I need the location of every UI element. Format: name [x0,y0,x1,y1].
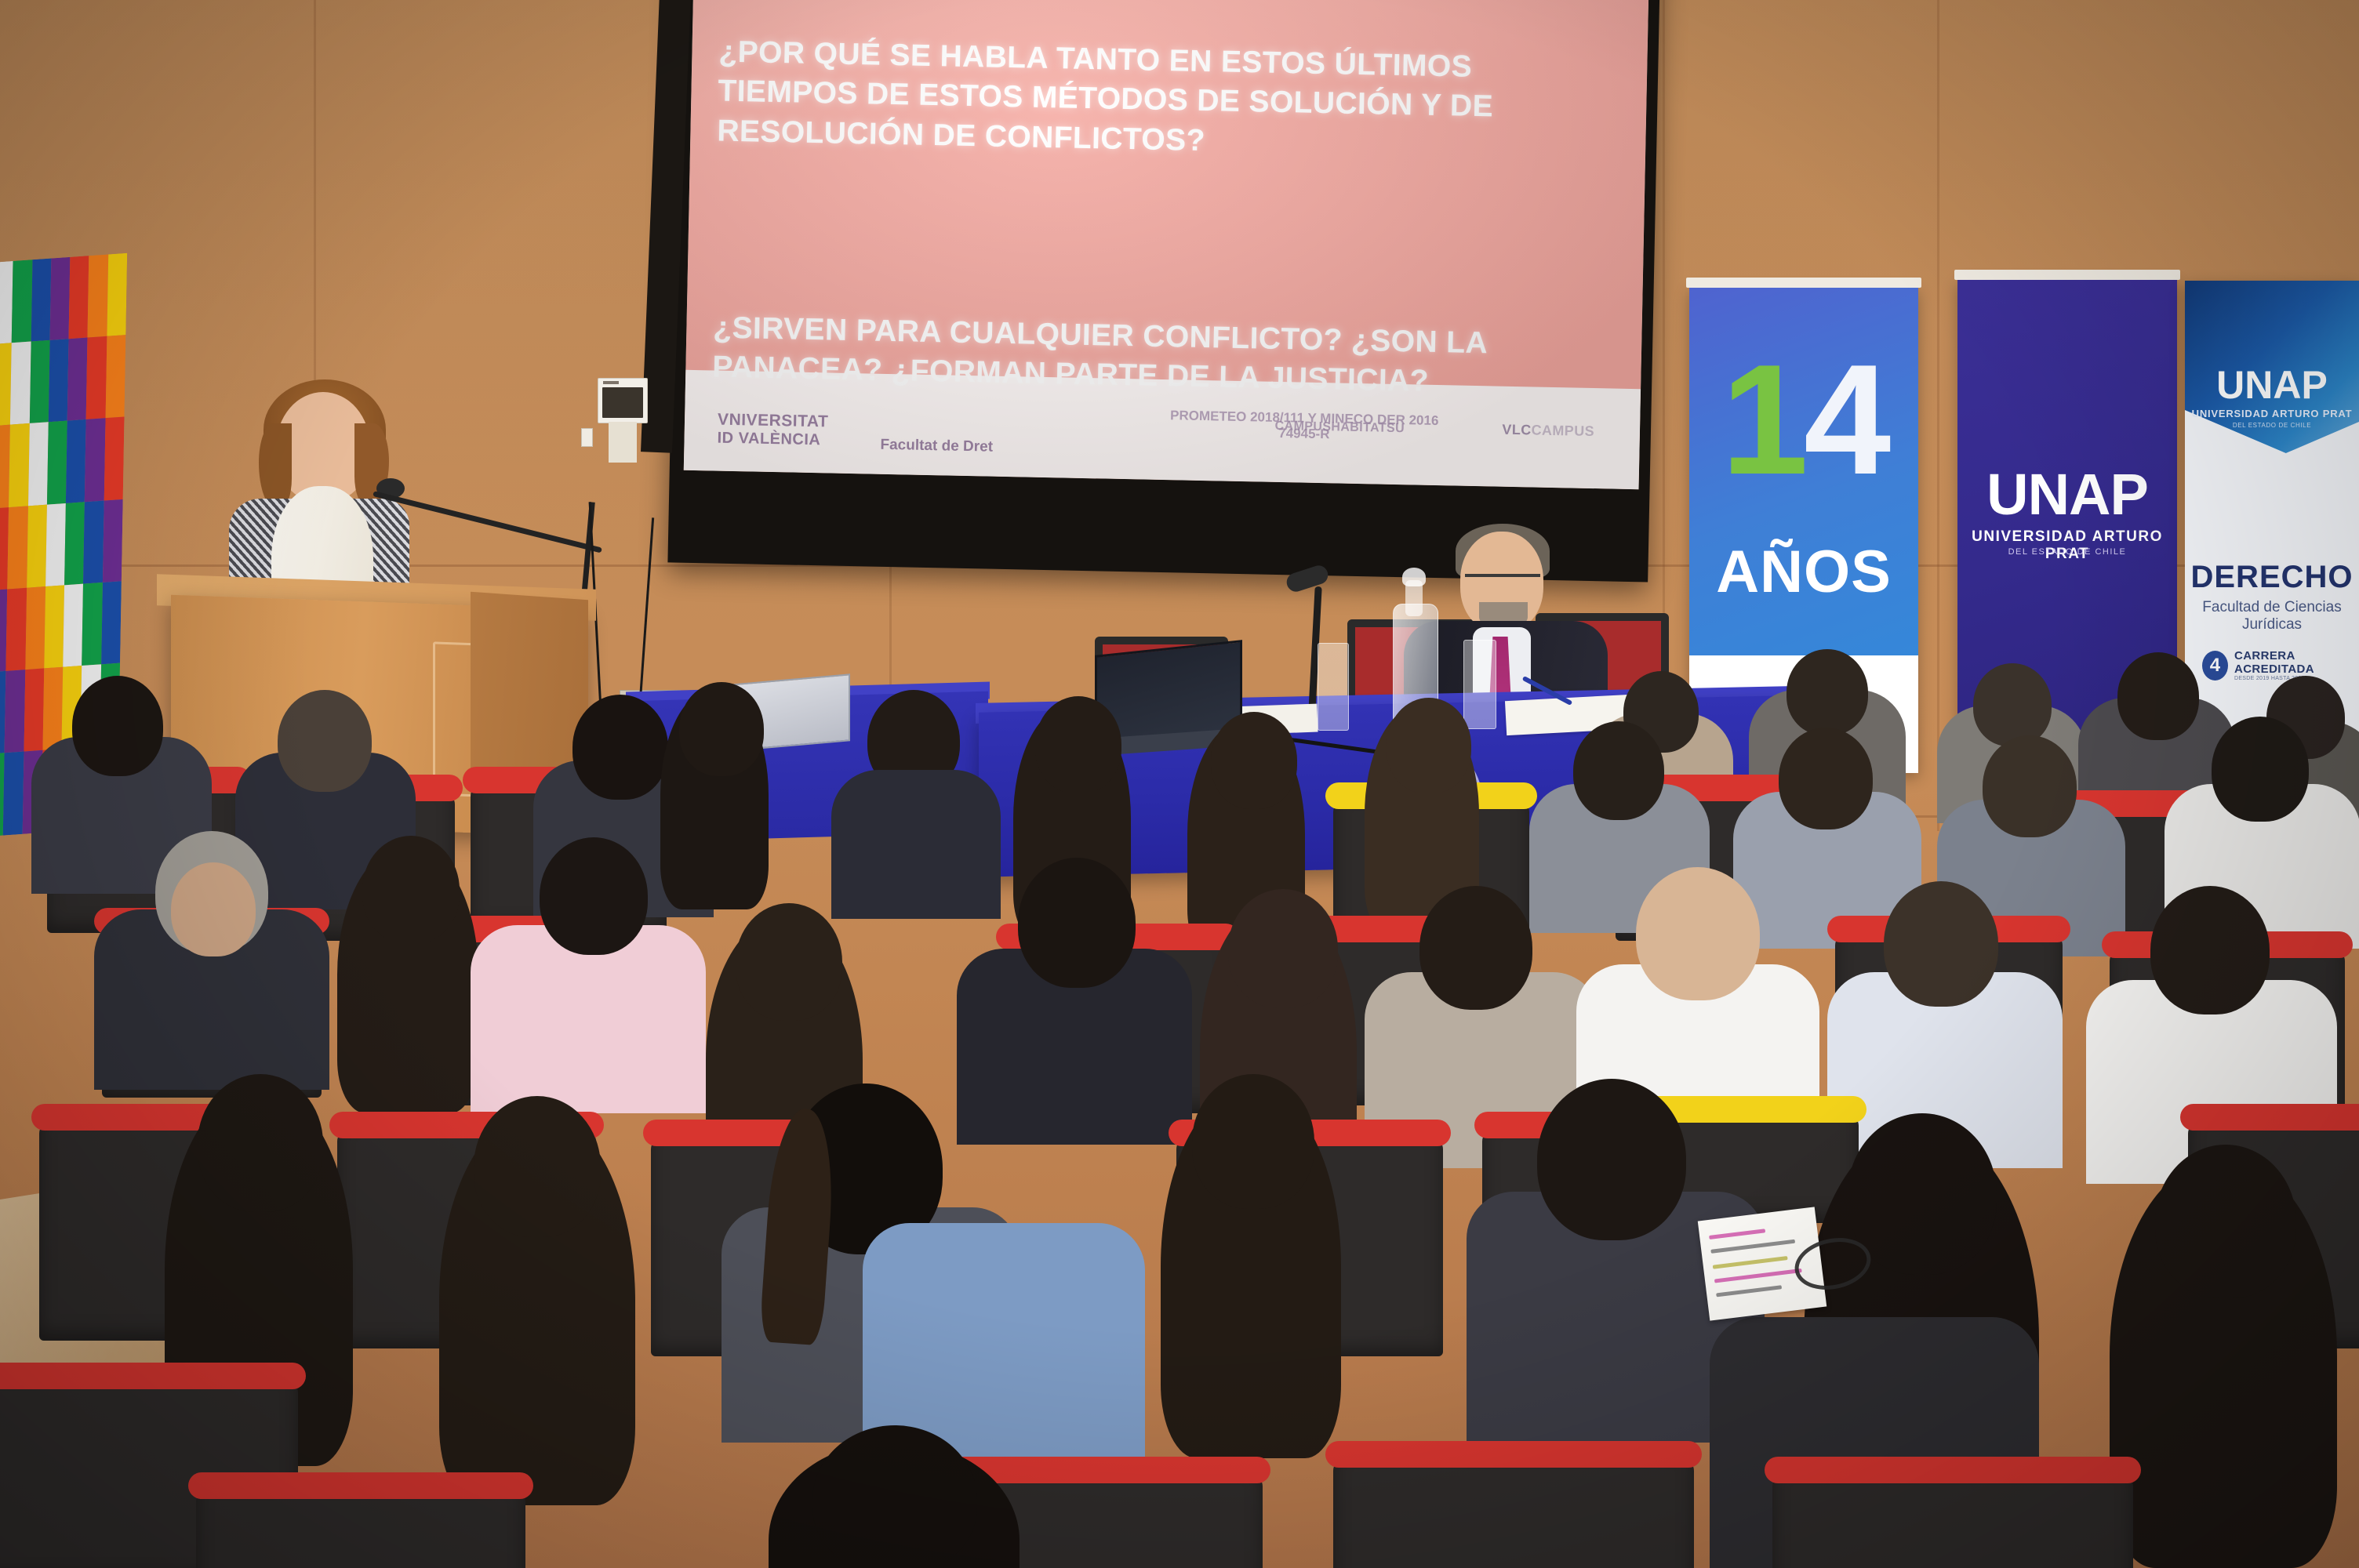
derecho-unap-name: UNIVERSIDAD ARTURO PRAT [2185,408,2359,419]
seat-red-trim [1325,1441,1702,1468]
attendee-head [1787,649,1868,735]
attendee-head [1884,881,1998,1007]
university-line-2: ID VALÈNCIA [717,430,828,450]
attendee-head [1035,696,1121,793]
attendee-head [1983,735,2077,837]
attendee-face [171,862,256,956]
accreditation-years-badge: 4 [2202,651,2228,681]
conference-hall-photo: ¿QUÉ SON LAS ADR? ¿POR QUÉ SE HABLA TANT… [0,0,2359,1568]
auditorium-seat[interactable] [1333,1458,1694,1568]
attendee-head [1973,663,2052,746]
derecho-faculty-name: Facultad de Ciencias Jurídicas [2185,599,2359,633]
attendee-head [72,676,163,776]
unap-subtitle: DEL ESTADO DE CHILE [1957,547,2177,557]
attendee-head [679,682,764,776]
projection-screen: ¿QUÉ SON LAS ADR? ¿POR QUÉ SE HABLA TANT… [667,0,1661,582]
attendee-head [736,903,842,1021]
attendee-head [2150,886,2270,1014]
attendee-head [2155,1145,2296,1298]
attendee-head [540,837,648,955]
attendee-head [1387,698,1471,793]
auditorium-seat[interactable] [196,1490,525,1568]
seat-red-trim [188,1472,533,1499]
accreditation-block: 4 CARRERA ACREDITADA DESDE 2019 HASTA 20… [2202,649,2359,681]
presentation-slide: ¿QUÉ SON LAS ADR? ¿POR QUÉ SE HABLA TANT… [684,0,1651,489]
attendee-denim-jacket [863,1223,1145,1458]
attendee-head [1228,889,1338,1008]
attendee-head [1419,886,1532,1010]
paper-highlight-line [1709,1229,1765,1240]
derecho-unap-acronym: UNAP [2185,362,2359,408]
slide-university-logo: VNIVERSITAT ID VALÈNCIA [717,411,828,450]
derecho-unap-subtitle: DEL ESTADO DE CHILE [2185,422,2359,429]
banner-anniversary-number: 14 [1689,342,1918,499]
attendee-head [1211,712,1297,809]
unap-name: UNIVERSIDAD ARTURO PRAT [1957,528,2177,563]
drinking-glass [1318,643,1349,731]
attendee-head [1192,1074,1314,1209]
eyeglasses-icon [1465,574,1540,577]
wall-control-panel[interactable] [598,378,648,423]
slide-faculty-label: Facultat de Dret [880,437,993,456]
anniversary-digit-1: 1 [1721,332,1804,507]
paper-text-line [1716,1285,1782,1297]
auditorium-seat[interactable] [1772,1474,2133,1568]
wall-panel-base [609,422,637,463]
light-switch[interactable] [581,428,593,447]
slide-vlc-campus-label: VLCCAMPUS [1502,422,1594,440]
seat-red-trim [0,1363,306,1389]
attendee-head [1018,858,1136,988]
attendee-shoulders [831,770,1001,919]
attendee-head [2117,652,2199,740]
banner-hanger [1686,278,1921,288]
attendee-head [1848,1113,1997,1275]
screen-surface: ¿QUÉ SON LAS ADR? ¿POR QUÉ SE HABLA TANT… [684,0,1651,489]
vlc-bold-text: VLC [1502,422,1532,438]
drinking-glass [1463,640,1496,729]
paper-highlight-line [1714,1269,1802,1283]
slide-campus-habitat-label: CAMPUSHABITATSU [1274,419,1405,436]
attendee-head [2212,717,2309,822]
accreditation-text: CARRERA ACREDITADA [2234,649,2314,676]
banner-hanger [1954,270,2180,280]
attendee-head [278,690,372,792]
banner-anniversary-word: AÑOS [1689,538,1918,606]
attendee-head [1779,728,1873,829]
vlc-light-text: CAMPUS [1531,422,1594,439]
attendee-head [572,695,668,800]
attendee-head-bald [1636,867,1760,1000]
attendee-head [362,836,460,944]
paper-text-line [1710,1240,1795,1254]
derecho-program-title: DERECHO [2185,560,2359,595]
speaker-hair-left [259,423,292,510]
seat-red-trim [1765,1457,2141,1483]
paper-highlight-line [1713,1256,1788,1269]
wall-vertical-seam [1937,0,1939,831]
seat-red-trim [2180,1104,2359,1131]
attendee-head [1573,721,1664,820]
attendee-head [1537,1079,1686,1240]
attendee-head [812,1425,977,1568]
anniversary-digit-4: 4 [1804,332,1886,507]
unap-acronym: UNAP [1957,461,2177,528]
attendee-head [474,1096,601,1237]
attendee-head [198,1074,323,1212]
carafe-stopper [1402,568,1426,586]
slide-footer: VNIVERSITAT ID VALÈNCIA Facultat de Dret… [684,370,1641,489]
university-line-1: VNIVERSITAT [718,411,829,431]
